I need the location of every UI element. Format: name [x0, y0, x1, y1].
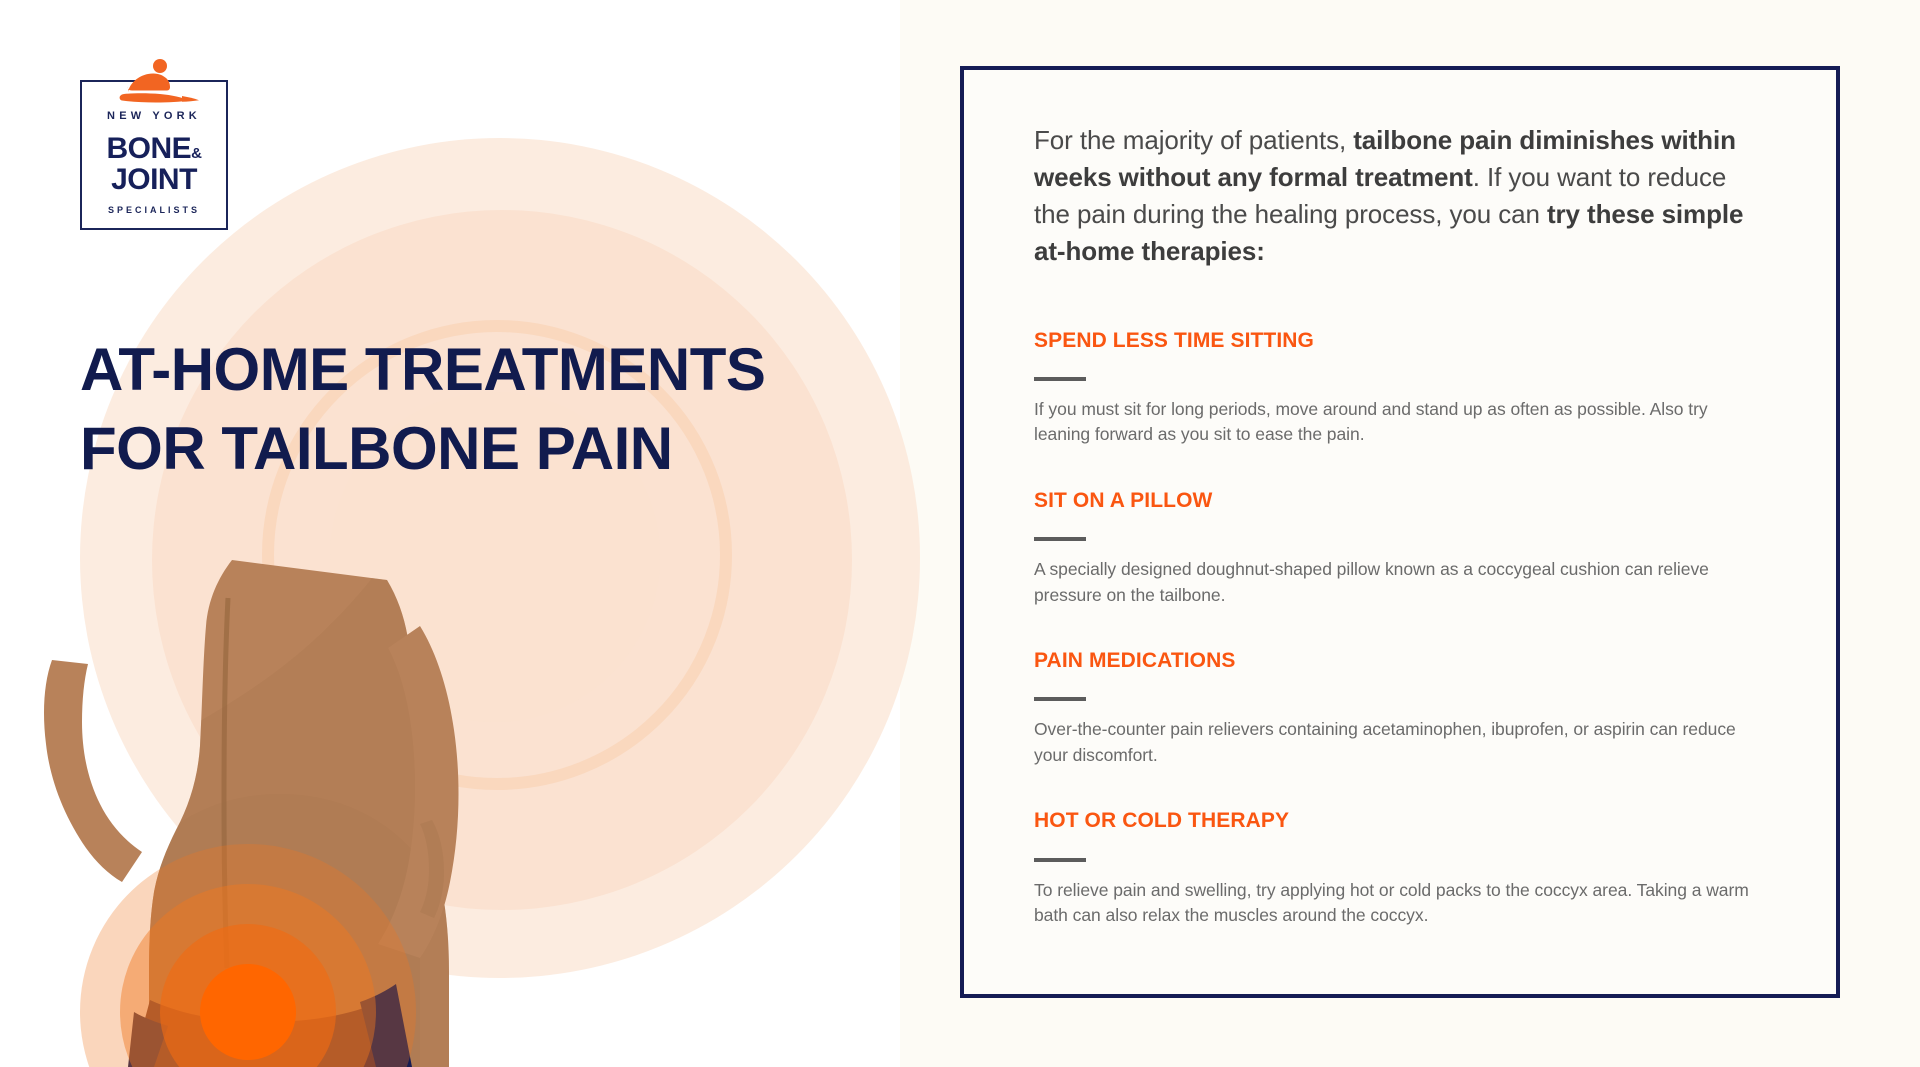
- left-arm: [44, 660, 142, 882]
- logo-ampersand: &: [191, 145, 201, 162]
- spacer: [1034, 768, 1764, 808]
- infographic-canvas: NEW YORK BONE& JOINT SPECIALISTS AT-HOME…: [0, 0, 1920, 1067]
- heading-divider: [1034, 377, 1086, 381]
- therapy-heading: SIT ON A PILLOW: [1034, 488, 1764, 513]
- spacer: [1034, 270, 1764, 328]
- logo-text-block: NEW YORK BONE& JOINT SPECIALISTS: [80, 80, 228, 230]
- therapy-section: PAIN MEDICATIONS Over-the-counter pain r…: [1034, 648, 1764, 768]
- logo-word-bone: BONE: [106, 132, 191, 165]
- therapy-heading: PAIN MEDICATIONS: [1034, 648, 1764, 673]
- therapy-section: SPEND LESS TIME SITTING If you must sit …: [1034, 328, 1764, 448]
- back-pain-illustration: [0, 560, 560, 1067]
- therapy-section: SIT ON A PILLOW A specially designed dou…: [1034, 488, 1764, 608]
- logo-line-new-york: NEW YORK: [107, 111, 201, 122]
- logo-line-bone: BONE&: [106, 134, 201, 164]
- logo-line-joint: JOINT: [111, 164, 197, 196]
- heading-divider: [1034, 697, 1086, 701]
- therapy-body: To relieve pain and swelling, try applyi…: [1034, 878, 1764, 929]
- panel-content: For the majority of patients, tailbone p…: [1034, 122, 1764, 929]
- page-title: AT-HOME TREATMENTS FOR TAILBONE PAIN: [80, 330, 810, 488]
- intro-part-1: For the majority of patients,: [1034, 125, 1353, 155]
- heading-divider: [1034, 537, 1086, 541]
- therapy-body: A specially designed doughnut-shaped pil…: [1034, 557, 1764, 608]
- therapy-section: HOT OR COLD THERAPY To relieve pain and …: [1034, 808, 1764, 928]
- therapy-body: If you must sit for long periods, move a…: [1034, 397, 1764, 448]
- intro-paragraph: For the majority of patients, tailbone p…: [1034, 122, 1764, 270]
- spacer: [1034, 448, 1764, 488]
- logo-line-specialists: SPECIALISTS: [108, 206, 200, 215]
- content-panel: For the majority of patients, tailbone p…: [960, 66, 1840, 998]
- therapy-body: Over-the-counter pain relievers containi…: [1034, 717, 1764, 768]
- brand-logo[interactable]: NEW YORK BONE& JOINT SPECIALISTS: [80, 58, 228, 230]
- therapy-heading: SPEND LESS TIME SITTING: [1034, 328, 1764, 353]
- therapy-heading: HOT OR COLD THERAPY: [1034, 808, 1764, 833]
- spacer: [1034, 608, 1764, 648]
- heading-divider: [1034, 858, 1086, 862]
